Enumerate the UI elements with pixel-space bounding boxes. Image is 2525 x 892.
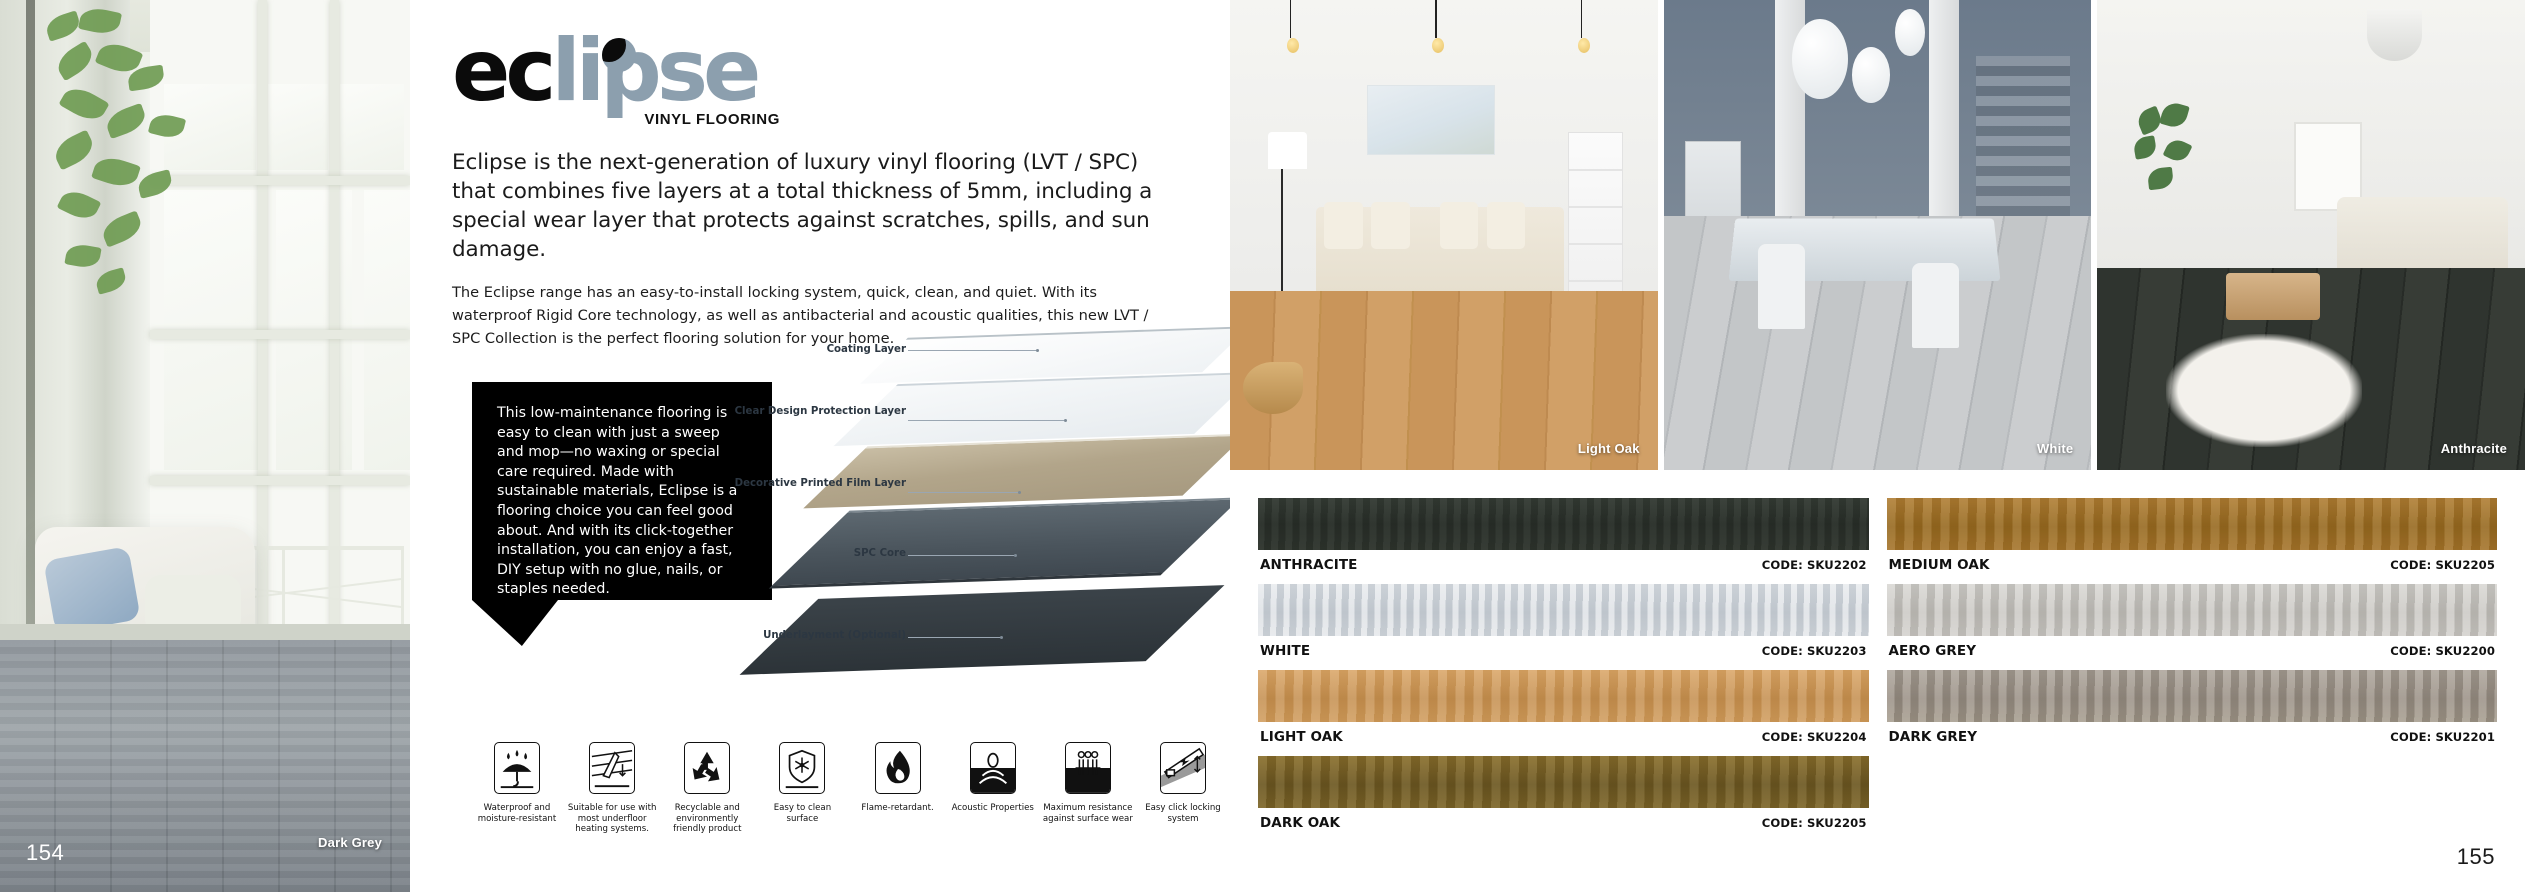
room-shelf <box>1568 132 1624 301</box>
feature-acoustic: Acoustic Properties <box>948 742 1038 835</box>
swatch-name: AERO GREY <box>1889 643 1977 659</box>
surface-wear-icon <box>1065 742 1111 794</box>
feature-recyclable: Recyclable and environmently friendly pr… <box>662 742 752 835</box>
feature-icon-row: Waterproof and moisture-resistant <box>472 742 1228 835</box>
room-rug <box>2166 334 2363 447</box>
feature-label: Easy click locking system <box>1138 803 1228 824</box>
feature-label: Waterproof and moisture-resistant <box>472 803 562 824</box>
swatch-code: CODE: SKU2201 <box>2390 730 2495 744</box>
logo-wordmark: eclipse <box>452 34 782 108</box>
window-pane <box>340 84 404 170</box>
globe-lamp-icon <box>1792 19 1848 99</box>
shield-snowflake-icon <box>779 742 825 794</box>
feature-label: Recyclable and environmently friendly pr… <box>662 803 752 835</box>
feature-flame-retardant: Flame-retardant. <box>853 742 943 835</box>
swatch-aero-grey[interactable]: AERO GREY CODE: SKU2200 <box>1887 584 2498 670</box>
swatch-name: MEDIUM OAK <box>1889 557 1990 573</box>
swatch-name: WHITE <box>1260 643 1310 659</box>
left-page-content: eclipse VINYL FLOORING Eclipse is the ne… <box>452 0 1230 892</box>
room-photo-row: Light Oak White <box>1230 0 2525 470</box>
page-number-left: 154 <box>26 840 64 866</box>
pendant-lamp-icon <box>2367 9 2423 61</box>
umbrella-rain-icon <box>494 742 540 794</box>
swatch-code: CODE: SKU2204 <box>1762 730 1867 744</box>
swatch-medium-oak[interactable]: MEDIUM OAK CODE: SKU2205 <box>1887 498 2498 584</box>
colour-swatch-grid: ANTHRACITE CODE: SKU2202 MEDIUM OAK CODE… <box>1258 498 2497 842</box>
swatch-light-oak[interactable]: LIGHT OAK CODE: SKU2204 <box>1258 670 1869 756</box>
room-chair <box>1758 244 1805 329</box>
acoustic-wave-icon <box>970 742 1016 794</box>
photo-door-edge <box>26 0 35 700</box>
room-caption: Anthracite <box>2441 441 2507 456</box>
callout-tail <box>472 600 558 646</box>
room-caption: Light Oak <box>1578 441 1640 456</box>
room-wall-art <box>1367 85 1495 156</box>
swatch-caption-row: DARK OAK CODE: SKU2205 <box>1258 808 1869 842</box>
feature-easy-clean: Easy to clean surface <box>757 742 847 835</box>
room-lamp-leg <box>1281 169 1283 291</box>
swatch-code: CODE: SKU2200 <box>2390 644 2495 658</box>
window-pane <box>268 84 328 170</box>
feature-label: Maximum resistance against surface wear <box>1043 803 1133 824</box>
swatch-image <box>1887 498 2498 550</box>
swatch-name: LIGHT OAK <box>1260 729 1343 745</box>
feature-surface-wear: Maximum resistance against surface wear <box>1043 742 1133 835</box>
lead-paragraph: Eclipse is the next-generation of luxury… <box>452 148 1176 264</box>
feature-label: Easy to clean surface <box>757 803 847 824</box>
room-photo-light-oak: Light Oak <box>1230 0 1658 470</box>
room-floor-lamp <box>1268 132 1306 170</box>
swatch-name: DARK OAK <box>1260 815 1340 831</box>
layer-label-underlayment: Underlayment (Optional) <box>696 630 906 642</box>
swatch-name: ANTHRACITE <box>1260 557 1357 573</box>
swatch-empty-slot <box>1887 756 2498 842</box>
left-page: Dark Grey 154 eclipse VINYL FLOORING Ecl… <box>0 0 1230 892</box>
underfloor-heating-icon <box>589 742 635 794</box>
room-plant <box>2132 103 2200 244</box>
swatch-image <box>1887 670 2498 722</box>
pendant-bulb-icon <box>1578 38 1590 53</box>
swatch-image <box>1258 498 1869 550</box>
feature-label: Suitable for use with most underfloor he… <box>567 803 657 835</box>
eclipse-logo: eclipse VINYL FLOORING <box>452 34 782 126</box>
room-photo-white: White <box>1664 0 2092 470</box>
swatch-image <box>1258 756 1869 808</box>
swatch-caption-row: WHITE CODE: SKU2203 <box>1258 636 1869 670</box>
swatch-image <box>1258 584 1869 636</box>
catalogue-spread: Dark Grey 154 eclipse VINYL FLOORING Ecl… <box>0 0 2525 892</box>
room-chair <box>1912 263 1959 348</box>
swatch-dark-oak[interactable]: DARK OAK CODE: SKU2205 <box>1258 756 1869 842</box>
logo-text-lipse: lipse <box>551 21 756 121</box>
feature-click-lock: Easy click locking system <box>1138 742 1228 835</box>
click-lock-icon <box>1160 742 1206 794</box>
swatch-caption-row: AERO GREY CODE: SKU2200 <box>1887 636 2498 670</box>
room-caption: White <box>2037 441 2073 456</box>
logo-text-ec: ec <box>452 21 551 121</box>
swatch-dark-grey[interactable]: DARK GREY CODE: SKU2201 <box>1887 670 2498 756</box>
room-photo-anthracite: Anthracite <box>2097 0 2525 470</box>
swatch-white[interactable]: WHITE CODE: SKU2203 <box>1258 584 1869 670</box>
swatch-image <box>1887 584 2498 636</box>
swatch-caption-row: MEDIUM OAK CODE: SKU2205 <box>1887 550 2498 584</box>
layer-label-clear-design: Clear Design Protection Layer <box>716 406 906 418</box>
swatch-code: CODE: SKU2203 <box>1762 644 1867 658</box>
layer-label-spc-core: SPC Core <box>716 548 906 560</box>
photo-plant <box>40 5 230 335</box>
layer-diagram: Coating Layer Clear Design Protection La… <box>676 330 1228 700</box>
page-number-right: 155 <box>2457 844 2495 870</box>
hero-room-photo-dark-grey: Dark Grey 154 <box>0 0 410 892</box>
swatch-anthracite[interactable]: ANTHRACITE CODE: SKU2202 <box>1258 498 1869 584</box>
eclipse-moon-icon <box>602 38 636 72</box>
swatch-code: CODE: SKU2205 <box>2390 558 2495 572</box>
feature-label: Acoustic Properties <box>948 803 1038 814</box>
pendant-bulb-icon <box>1287 38 1299 53</box>
swatch-caption-row: ANTHRACITE CODE: SKU2202 <box>1258 550 1869 584</box>
recycle-icon <box>684 742 730 794</box>
flame-icon <box>875 742 921 794</box>
pendant-bulb-icon <box>1432 38 1444 53</box>
layer-label-coating: Coating Layer <box>716 344 906 356</box>
swatch-caption-row: DARK GREY CODE: SKU2201 <box>1887 722 2498 756</box>
hero-photo-caption: Dark Grey <box>318 835 382 850</box>
feature-waterproof: Waterproof and moisture-resistant <box>472 742 562 835</box>
room-coffee-table <box>2226 273 2320 320</box>
swatch-name: DARK GREY <box>1889 729 1978 745</box>
swatch-caption-row: LIGHT OAK CODE: SKU2204 <box>1258 722 1869 756</box>
layer-label-decorative-film: Decorative Printed Film Layer <box>716 478 906 490</box>
right-page: Light Oak White <box>1230 0 2525 892</box>
swatch-code: CODE: SKU2205 <box>1762 816 1867 830</box>
globe-lamp-icon <box>1895 9 1925 56</box>
layer-labels: Coating Layer Clear Design Protection La… <box>676 330 906 700</box>
swatch-image <box>1258 670 1869 722</box>
logo-subtitle: VINYL FLOORING <box>644 111 780 128</box>
swatch-code: CODE: SKU2202 <box>1762 558 1867 572</box>
room-guitar <box>1243 362 1303 414</box>
feature-underfloor-heating: Suitable for use with most underfloor he… <box>567 742 657 835</box>
feature-label: Flame-retardant. <box>853 803 943 814</box>
photo-baseboard <box>0 624 410 640</box>
